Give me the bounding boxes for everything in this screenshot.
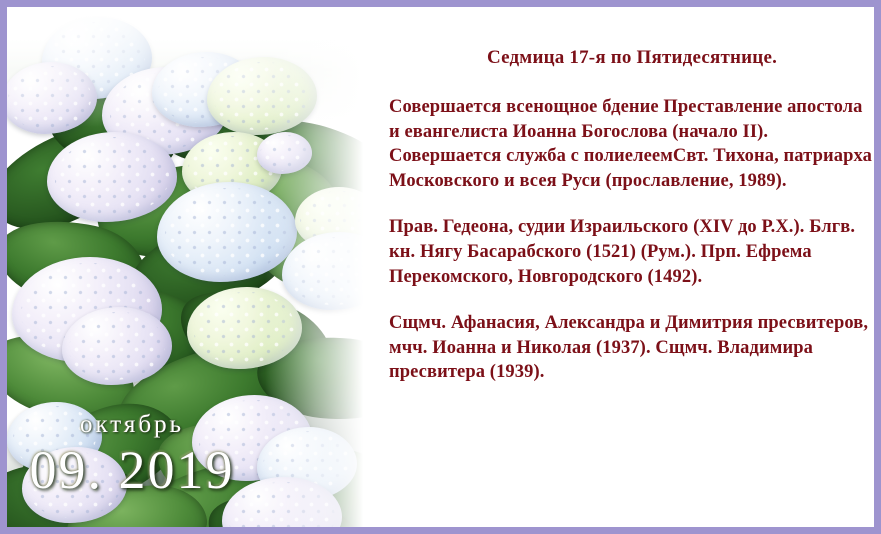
commemoration-paragraph-2: Прав. Гедеона, судии Израильского (XIV д…: [389, 215, 875, 289]
week-heading: Седмица 17-я по Пятидесятнице.: [389, 47, 875, 69]
calendar-card: октябрь 09. 2019 Седмица 17-я по Пятидес…: [0, 0, 881, 534]
commemoration-paragraph-1: Совершается всенощное бдение Преставлени…: [389, 95, 875, 193]
photo-right-fade: [265, 7, 385, 527]
calendar-text-column: Седмица 17-я по Пятидесятнице. Совершает…: [389, 47, 875, 385]
hydrangea-photo: [7, 7, 385, 527]
commemoration-paragraph-3: Сщмч. Афанасия, Александра и Димитрия пр…: [389, 311, 875, 385]
